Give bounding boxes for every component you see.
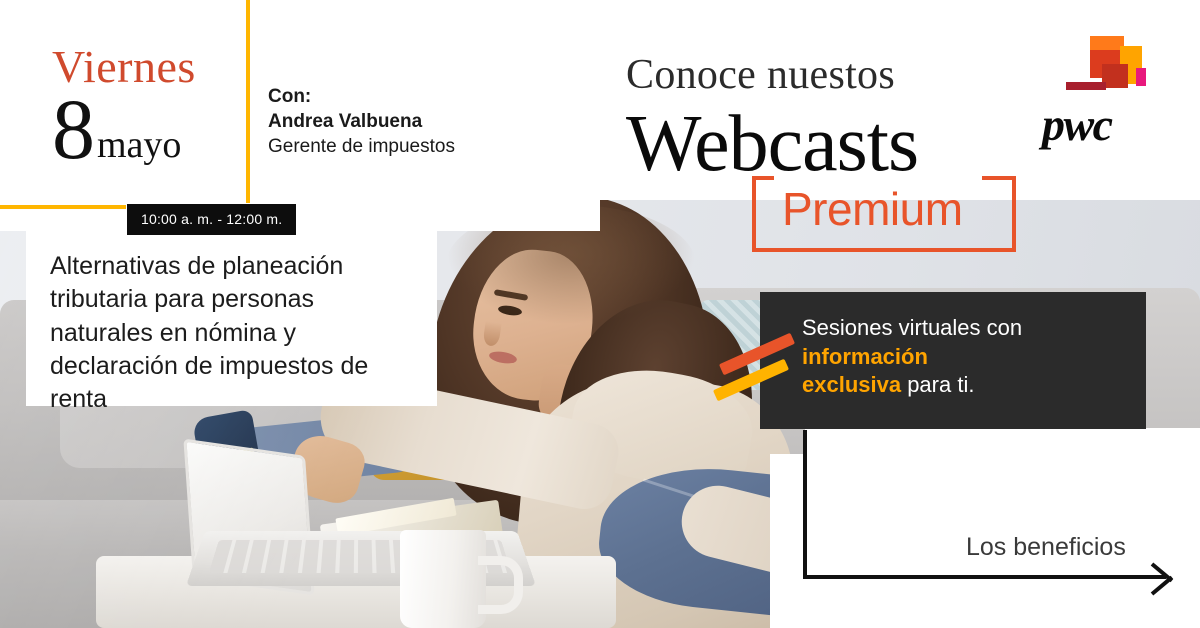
promo-highlight-2: exclusiva [802, 372, 901, 397]
vertical-divider-rule [246, 0, 250, 203]
title-block: Conoce nuestos Webcasts [626, 54, 918, 186]
cta-horizontal-line [803, 575, 1166, 579]
title-line-2: Webcasts [626, 102, 918, 186]
cta-label[interactable]: Los beneficios [966, 533, 1126, 562]
pwc-wordmark: pwc [1042, 98, 1112, 151]
promo-tail: para ti. [901, 372, 974, 397]
event-date-block: Viernes 8 mayo [52, 44, 242, 168]
event-month: mayo [97, 126, 181, 168]
event-day-number: 8 [52, 92, 95, 168]
webcast-promo-banner: Viernes 8 mayo Con: Andrea Valbuena Gere… [0, 0, 1200, 628]
title-line-1: Conoce nuestos [626, 54, 918, 96]
bottom-right-white-panel-upper [805, 428, 1200, 628]
cta-vertical-line [803, 430, 807, 578]
event-time-badge: 10:00 a. m. - 12:00 m. [127, 204, 296, 235]
event-description: Alternativas de planeación tributaria pa… [50, 250, 422, 416]
arrow-right-icon [1152, 562, 1174, 592]
horizontal-accent-rule [0, 205, 126, 209]
logo-square-magenta [1136, 68, 1146, 86]
speaker-label: Con: [268, 84, 548, 109]
speaker-name: Andrea Valbuena [268, 109, 548, 134]
pwc-logo: pwc [1040, 36, 1180, 146]
speaker-info: Con: Andrea Valbuena Gerente de impuesto… [268, 84, 548, 159]
premium-badge-label: Premium [782, 186, 963, 232]
promo-highlight-1: información [802, 344, 928, 369]
logo-square-darkred-bar [1066, 82, 1106, 90]
promo-text: Sesiones virtuales con información exclu… [802, 314, 1132, 400]
promo-line-1: Sesiones virtuales con [802, 315, 1022, 340]
speaker-role: Gerente de impuestos [268, 134, 548, 159]
